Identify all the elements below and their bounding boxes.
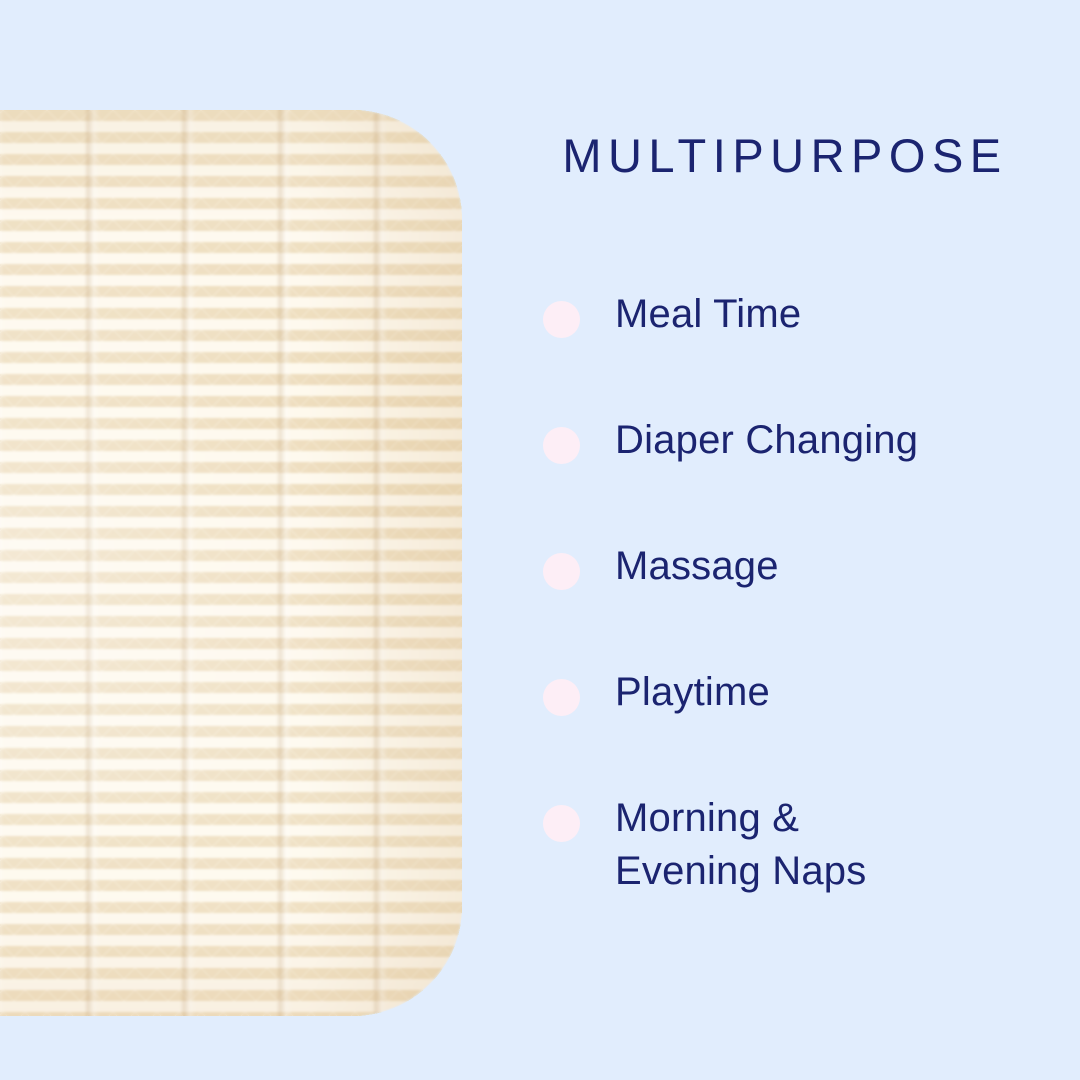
bullet-dot-icon <box>543 301 580 338</box>
bullet-dot-icon <box>543 805 580 842</box>
list-item: Playtime <box>530 666 1080 729</box>
list-item: Morning & Evening Naps <box>530 792 1080 898</box>
benefit-label: Morning & Evening Naps <box>615 792 866 898</box>
benefit-label: Playtime <box>615 666 770 719</box>
product-feature-card: MULTIPURPOSE Meal Time Diaper Changing M… <box>0 0 1080 1080</box>
benefit-list: Meal Time Diaper Changing Massage Playti… <box>530 288 1080 898</box>
bullet-dot-icon <box>543 553 580 590</box>
list-item: Meal Time <box>530 288 1080 351</box>
page-title: MULTIPURPOSE <box>530 131 1040 180</box>
benefit-label: Diaper Changing <box>615 414 918 467</box>
product-image-baby-mat <box>0 110 462 1016</box>
benefit-label: Meal Time <box>615 288 801 341</box>
list-item: Massage <box>530 540 1080 603</box>
bullet-dot-icon <box>543 427 580 464</box>
bullet-dot-icon <box>543 679 580 716</box>
photo-softening-blur <box>0 110 462 1016</box>
benefit-label: Massage <box>615 540 779 593</box>
list-item: Diaper Changing <box>530 414 1080 477</box>
copy-column: MULTIPURPOSE Meal Time Diaper Changing M… <box>530 0 1080 1080</box>
